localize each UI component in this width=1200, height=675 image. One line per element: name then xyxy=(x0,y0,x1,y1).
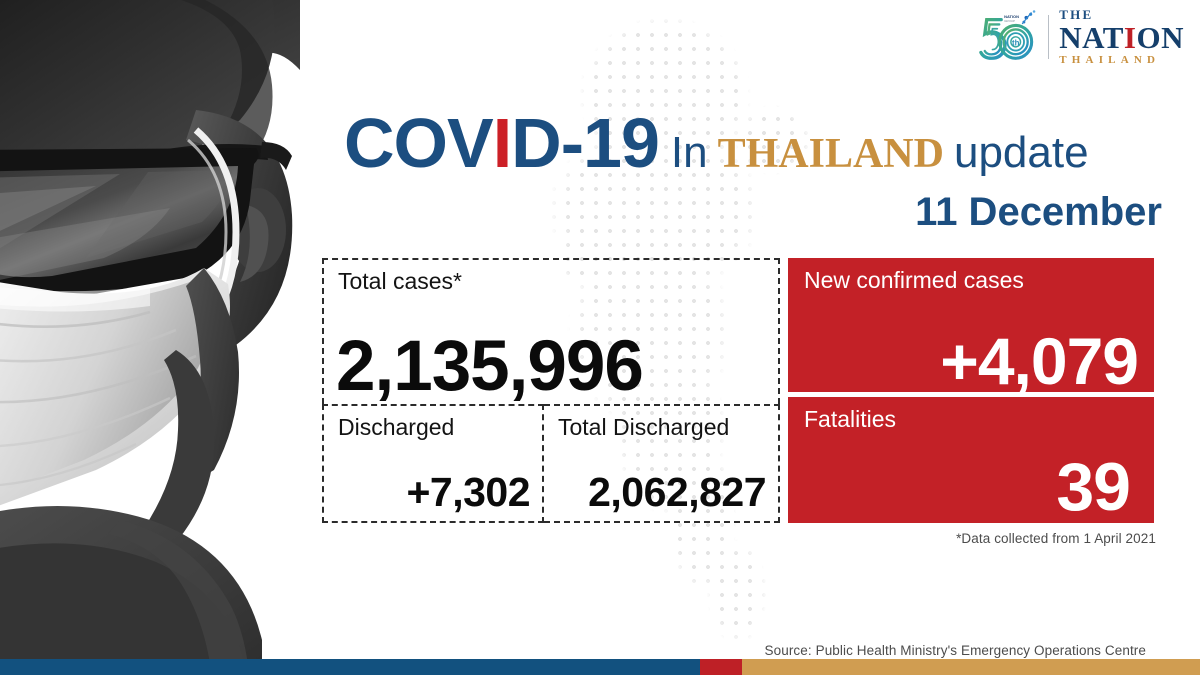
logo-wordmark: THE NATION THAILAND xyxy=(1059,8,1184,66)
source-attribution: Source: Public Health Ministry's Emergen… xyxy=(765,643,1146,658)
red-stats-panel: New confirmed cases +4,079 Fatalities 39 xyxy=(788,258,1154,523)
title-thailand-word: THAILAND xyxy=(718,133,944,175)
white-stats-panel: Total cases* 2,135,996 Discharged +7,302… xyxy=(322,258,780,523)
data-collection-footnote: *Data collected from 1 April 2021 xyxy=(956,531,1156,546)
total-discharged-cell: Total Discharged 2,062,827 xyxy=(544,404,780,523)
new-confirmed-cases-value: +4,079 xyxy=(940,328,1138,394)
title-covid: COVID-19 xyxy=(344,108,659,178)
title-covid-red-i: I xyxy=(493,104,511,182)
total-discharged-label: Total Discharged xyxy=(558,414,729,441)
logo-nation-red-i: I xyxy=(1124,20,1137,55)
new-confirmed-cases-box: New confirmed cases +4,079 xyxy=(788,258,1154,392)
fatalities-value: 39 xyxy=(1056,453,1130,521)
new-confirmed-cases-label: New confirmed cases xyxy=(804,267,1024,294)
nation-thailand-logo[interactable]: th NATION GROUP THE NATION THAILAND xyxy=(976,6,1184,68)
total-cases-cell: Total cases* 2,135,996 xyxy=(322,258,780,404)
covid-infographic: th NATION GROUP THE NATION THAILAND COVI… xyxy=(0,0,1200,675)
svg-text:th: th xyxy=(1012,38,1020,47)
logo-thailand-text: THAILAND xyxy=(1059,55,1160,66)
total-discharged-value: 2,062,827 xyxy=(588,472,766,513)
masked-person-photo xyxy=(0,0,322,665)
page-title: COVID-19 In THAILAND update xyxy=(344,108,1164,178)
svg-text:GROUP: GROUP xyxy=(1004,19,1015,23)
logo-divider xyxy=(1048,15,1049,59)
title-in-word: In xyxy=(671,131,708,175)
discharged-label: Discharged xyxy=(338,414,454,441)
total-cases-value: 2,135,996 xyxy=(336,331,643,402)
logo-nation-text: NATION xyxy=(1059,22,1184,53)
discharged-value: +7,302 xyxy=(406,472,530,513)
total-cases-label: Total cases* xyxy=(338,268,462,295)
title-update-word: update xyxy=(954,131,1089,175)
discharged-cell: Discharged +7,302 xyxy=(322,404,544,523)
title-covid-part2: D-19 xyxy=(511,104,659,182)
bottom-color-bar xyxy=(0,659,1200,675)
fatalities-label: Fatalities xyxy=(804,406,896,433)
logo-nation-part1: NAT xyxy=(1059,20,1124,55)
fifty-years-anniversary-icon: th NATION GROUP xyxy=(976,8,1038,66)
title-covid-part1: COV xyxy=(344,104,493,182)
report-date: 11 December xyxy=(915,192,1162,232)
bottom-bar-gold-segment xyxy=(742,659,1200,675)
logo-nation-part2: ON xyxy=(1137,20,1185,55)
bottom-bar-red-segment xyxy=(700,659,742,675)
fatalities-box: Fatalities 39 xyxy=(788,397,1154,523)
bottom-bar-navy-segment xyxy=(0,659,700,675)
